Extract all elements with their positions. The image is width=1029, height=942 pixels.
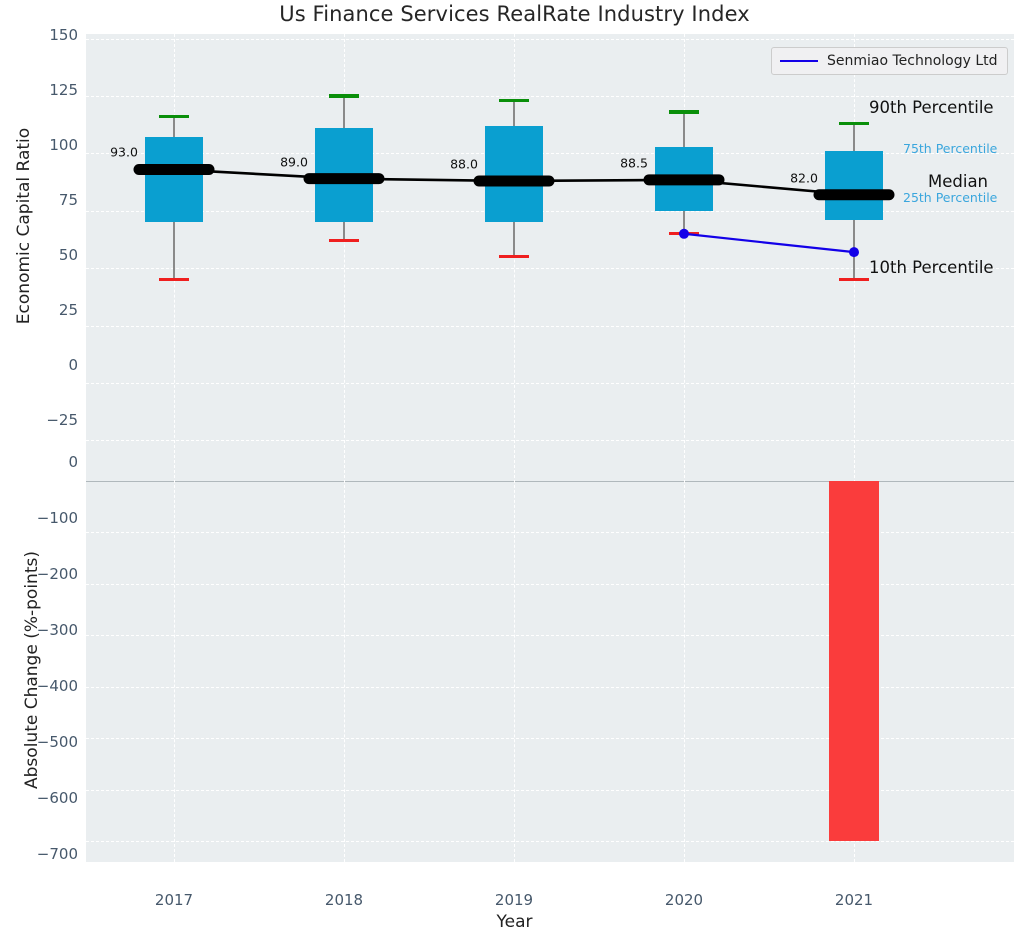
cap-10th-2017 [159,278,189,281]
x-tick-2019: 2019 [495,891,533,909]
chart-title: Us Finance Services RealRate Industry In… [0,2,1029,26]
cap-90th-2017 [159,115,189,118]
gridline [86,96,1014,97]
x-tick-2021: 2021 [835,891,873,909]
cap-90th-2020 [669,110,699,113]
y-tick-bot-1: −100 [37,509,78,527]
x-axis-label: Year [0,912,1029,932]
y-tick-top-1: 125 [49,81,78,99]
chart-root: Us Finance Services RealRate Industry In… [0,0,1029,942]
y-tick-bot-3: −300 [37,621,78,639]
cap-90th-2021 [839,122,869,125]
y-tick-top-4: 50 [59,246,78,264]
y-tick-top-2: 100 [49,136,78,154]
box-2020 [655,147,713,211]
median-label-2020: 88.5 [620,155,648,170]
annotation-median: Median [928,172,988,191]
box-2017 [145,137,203,222]
x-tick-2018: 2018 [325,891,363,909]
change-bar-2021 [829,481,879,842]
gridline-vertical [174,460,175,862]
y-tick-bot-2: −200 [37,565,78,583]
y-tick-top-7: −25 [46,411,78,429]
x-tick-2020: 2020 [665,891,703,909]
cap-10th-2019 [499,255,529,258]
gridline-vertical [684,34,685,468]
top-y-axis: 150 125 100 75 50 25 0 −25 [0,34,78,468]
y-tick-bot-5: −500 [37,733,78,751]
legend-label-senmiao: Senmiao Technology Ltd [827,53,998,69]
median-label-2018: 89.0 [280,154,308,169]
cap-10th-2018 [329,239,359,242]
gridline [86,383,1014,384]
cap-90th-2019 [499,99,529,102]
y-tick-top-5: 25 [59,301,78,319]
gridline [86,841,1014,842]
legend[interactable]: Senmiao Technology Ltd [771,47,1008,75]
box-2021 [825,151,883,220]
y-tick-top-0: 150 [49,26,78,44]
gridline [86,39,1014,40]
median-label-2019: 88.0 [450,156,478,171]
gridline-vertical [684,460,685,862]
cap-10th-2020 [669,232,699,235]
gridline-vertical [514,460,515,862]
box-2018 [315,128,373,222]
top-y-axis-label: Economic Capital Ratio [14,36,34,416]
cap-10th-2021 [839,278,869,281]
box-2019 [485,126,543,222]
y-tick-bot-7: −700 [37,845,78,863]
y-tick-bot-4: −400 [37,677,78,695]
annotation-75th-percentile: 75th Percentile [903,141,997,156]
annotation-10th-percentile: 10th Percentile [869,258,994,277]
legend-line-icon [780,60,818,62]
median-label-2021: 82.0 [790,170,818,185]
annotation-25th-percentile: 25th Percentile [903,190,997,205]
y-tick-bot-0: 0 [68,453,78,471]
cap-90th-2018 [329,94,359,97]
gridline-vertical [344,460,345,862]
annotation-90th-percentile: 90th Percentile [869,98,994,117]
y-tick-top-3: 75 [59,191,78,209]
median-label-2017: 93.0 [110,145,138,160]
y-tick-top-6: 0 [68,356,78,374]
gridline [86,326,1014,327]
gridline [86,440,1014,441]
bottom-y-axis-label: Absolute Change (%-points) [22,470,42,870]
x-tick-2017: 2017 [155,891,193,909]
y-tick-bot-6: −600 [37,789,78,807]
